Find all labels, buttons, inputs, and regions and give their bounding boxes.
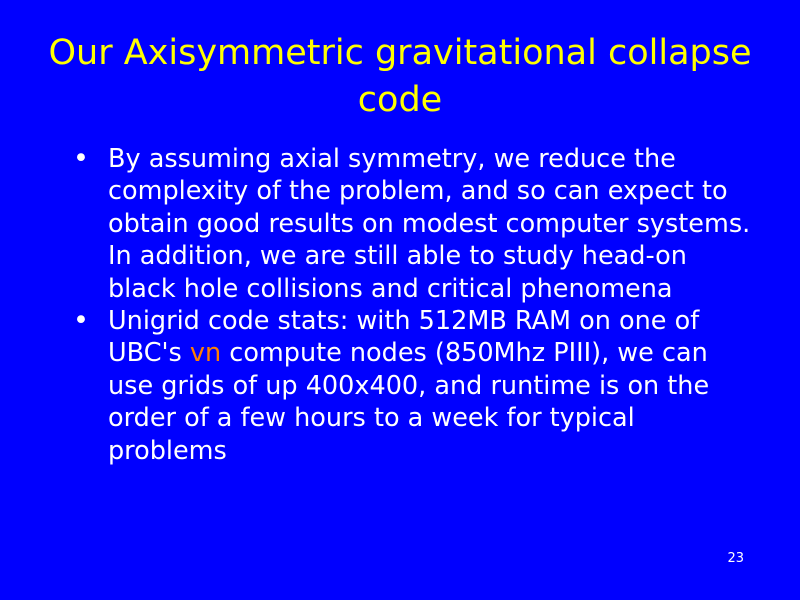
highlighted-term: vn: [190, 338, 221, 368]
bullet-icon: •: [62, 305, 108, 337]
bullet-text: Unigrid code stats: with 512MB RAM on on…: [108, 305, 752, 467]
bullet-text: By assuming axial symmetry, we reduce th…: [108, 143, 752, 305]
list-item: • Unigrid code stats: with 512MB RAM on …: [62, 305, 752, 467]
slide: Our Axisymmetric gravitational collapse …: [0, 0, 800, 600]
page-number: 23: [727, 551, 744, 567]
list-item: • By assuming axial symmetry, we reduce …: [62, 143, 752, 305]
bullet-icon: •: [62, 143, 108, 175]
slide-body: • By assuming axial symmetry, we reduce …: [62, 143, 752, 467]
page-title: Our Axisymmetric gravitational collapse …: [40, 30, 760, 124]
